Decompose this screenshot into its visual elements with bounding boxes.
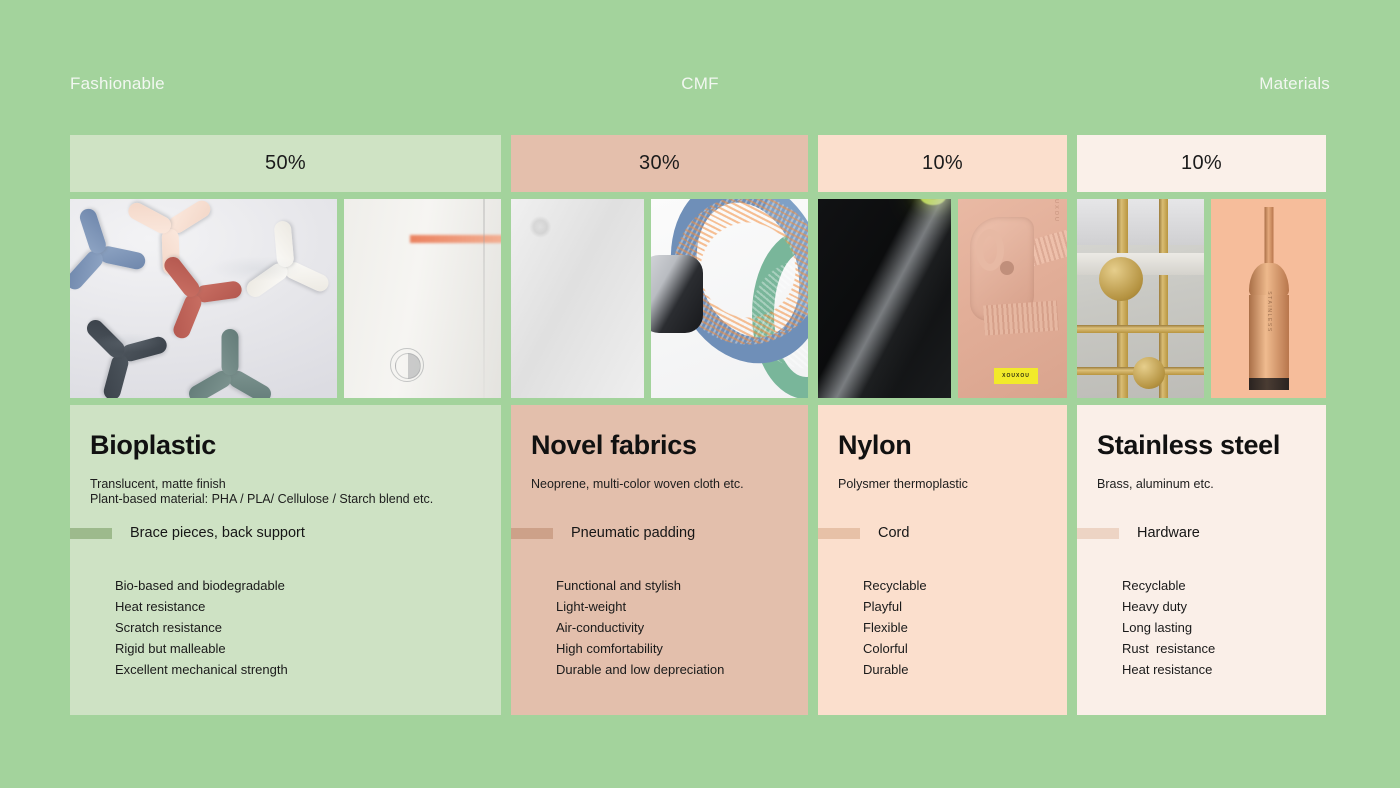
usage-color-swatch xyxy=(511,528,553,539)
usage-color-swatch xyxy=(818,528,860,539)
pink-strap-buckle-photo[interactable]: XOUXOU XOUXOU xyxy=(958,199,1067,398)
percentage-value: 30% xyxy=(639,152,680,175)
feature-item: Recyclable xyxy=(863,575,927,596)
feature-item: Colorful xyxy=(863,638,927,659)
cmf-materials-board: Fashionable CMF Materials 50% xyxy=(0,0,1400,788)
percentage-value: 10% xyxy=(1181,152,1222,175)
material-column-bioplastic: 50% Bioplastic xyxy=(70,135,501,715)
percentage-bar-nylon: 10% xyxy=(818,135,1067,192)
feature-item: Durable xyxy=(863,659,927,680)
feature-item: Excellent mechanical strength xyxy=(115,659,288,680)
feature-item: Heat resistance xyxy=(1122,659,1215,680)
image-strip-bioplastic xyxy=(70,199,501,398)
percentage-bar-stainless-steel: 10% xyxy=(1077,135,1326,192)
strap-brand-label: XOUXOU xyxy=(994,368,1038,384)
material-title: Novel fabrics xyxy=(531,431,788,461)
header-label-center: CMF xyxy=(681,74,718,94)
usage-label: Brace pieces, back support xyxy=(130,525,305,541)
usage-color-swatch xyxy=(1077,528,1119,539)
quilted-dimpled-fabric-photo[interactable] xyxy=(511,199,644,398)
feature-item: Light-weight xyxy=(556,596,724,617)
feature-item: Heat resistance xyxy=(115,596,288,617)
orange-translucent-cap-photo[interactable] xyxy=(344,199,501,398)
feature-item: Air-conductivity xyxy=(556,617,724,638)
feature-list-bioplastic: Bio-based and biodegradable Heat resista… xyxy=(115,575,288,680)
feature-list-nylon: Recyclable Playful Flexible Colorful Dur… xyxy=(863,575,927,680)
material-subtitle-line-1: Translucent, matte finish xyxy=(90,477,481,493)
info-panel-nylon: Nylon Polysmer thermoplastic Cord Recycl… xyxy=(818,405,1067,715)
usage-row: Brace pieces, back support xyxy=(70,525,305,541)
material-title: Stainless steel xyxy=(1097,431,1306,461)
usage-label: Hardware xyxy=(1137,525,1200,541)
feature-list-novel-fabrics: Functional and stylish Light-weight Air-… xyxy=(556,575,724,680)
feature-item: Flexible xyxy=(863,617,927,638)
percentage-value: 50% xyxy=(265,152,306,175)
material-column-nylon: 10% DWD XOUXOU XOUXOU Nylon xyxy=(818,135,1067,715)
image-strip-stainless-steel: STAINLESS xyxy=(1077,199,1326,398)
info-panel-stainless-steel: Stainless steel Brass, aluminum etc. Har… xyxy=(1077,405,1326,715)
feature-item: Scratch resistance xyxy=(115,617,288,638)
info-panel-bioplastic: Bioplastic Translucent, matte finish Pla… xyxy=(70,405,501,715)
usage-label: Pneumatic padding xyxy=(571,525,695,541)
feature-item: Playful xyxy=(863,596,927,617)
feature-item: Bio-based and biodegradable xyxy=(115,575,288,596)
feature-item: Durable and low depreciation xyxy=(556,659,724,680)
percentage-bar-novel-fabrics: 30% xyxy=(511,135,808,192)
brass-hardware-fixture-photo[interactable] xyxy=(1077,199,1204,398)
image-strip-novel-fabrics xyxy=(511,199,808,398)
feature-item: Heavy duty xyxy=(1122,596,1215,617)
neon-green-embossed-panel-photo[interactable]: DWD xyxy=(818,199,951,398)
y-shaped-bioplastic-pieces-photo[interactable] xyxy=(70,199,337,398)
device-button-icon xyxy=(390,348,424,382)
board-header: Fashionable CMF Materials xyxy=(70,68,1330,100)
material-subtitle-line-2: Plant-based material: PHA / PLA/ Cellulo… xyxy=(90,492,481,508)
usage-row: Cord xyxy=(818,525,909,541)
header-label-right: Materials xyxy=(1259,74,1330,94)
usage-row: Hardware xyxy=(1077,525,1200,541)
feature-item: Functional and stylish xyxy=(556,575,724,596)
usage-row: Pneumatic padding xyxy=(511,525,695,541)
usage-color-swatch xyxy=(70,528,112,539)
material-columns: 50% Bioplastic xyxy=(70,135,1330,715)
material-title: Bioplastic xyxy=(90,431,481,461)
copper-bottle-photo[interactable]: STAINLESS xyxy=(1211,199,1326,398)
feature-item: Long lasting xyxy=(1122,617,1215,638)
feature-list-stainless-steel: Recyclable Heavy duty Long lasting Rust … xyxy=(1122,575,1215,680)
material-subtitle-line-1: Neoprene, multi-color woven cloth etc. xyxy=(531,477,788,493)
material-title: Nylon xyxy=(838,431,1047,461)
material-column-stainless-steel: 10% xyxy=(1077,135,1326,715)
woven-nylon-watch-band-photo[interactable] xyxy=(651,199,808,398)
feature-item: High comfortability xyxy=(556,638,724,659)
material-column-novel-fabrics: 30% Novel fabrics Neoprene, multi-color … xyxy=(511,135,808,715)
percentage-bar-bioplastic: 50% xyxy=(70,135,501,192)
info-panel-novel-fabrics: Novel fabrics Neoprene, multi-color wove… xyxy=(511,405,808,715)
feature-item: Recyclable xyxy=(1122,575,1215,596)
material-subtitle-line-1: Brass, aluminum etc. xyxy=(1097,477,1306,493)
feature-item: Rust resistance xyxy=(1122,638,1215,659)
material-subtitle-line-1: Polysmer thermoplastic xyxy=(838,477,1047,493)
feature-item: Rigid but malleable xyxy=(115,638,288,659)
image-strip-nylon: DWD XOUXOU XOUXOU xyxy=(818,199,1067,398)
usage-label: Cord xyxy=(878,525,909,541)
percentage-value: 10% xyxy=(922,152,963,175)
header-label-left: Fashionable xyxy=(70,74,165,94)
